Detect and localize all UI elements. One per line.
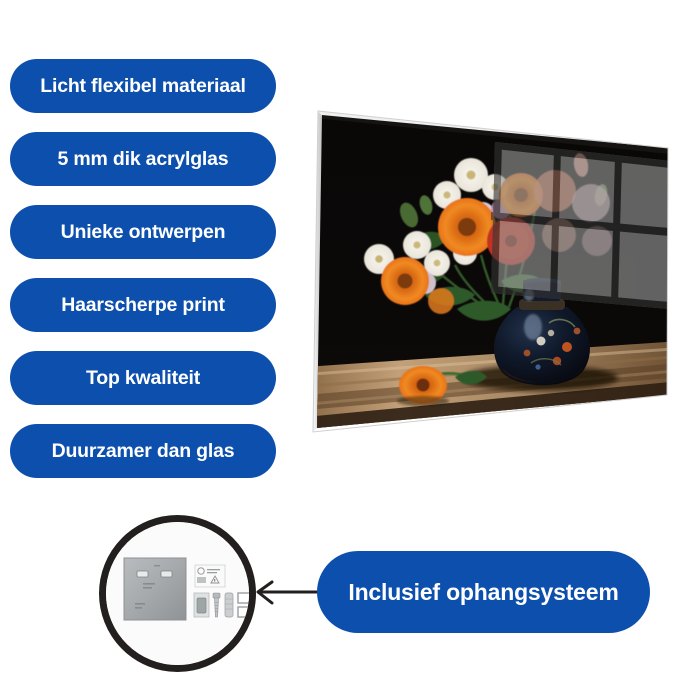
feature-badge-label: Licht flexibel materiaal [40,75,245,98]
feature-badge-label: Top kwaliteit [86,367,200,390]
callout-badge-inclusief-ophangsysteem[interactable]: Inclusief ophangsysteem [317,551,650,633]
callout-badge-label: Inclusief ophangsysteem [348,579,618,606]
feature-badge-haarscherpe-print[interactable]: Haarscherpe print [10,278,276,332]
window-reflection [491,142,680,310]
feature-badge-duurzamer-dan-glas[interactable]: Duurzamer dan glas [10,424,276,478]
feature-badge-label: 5 mm dik acrylglas [58,148,229,171]
feature-badge-5-mm-dik-acrylglas[interactable]: 5 mm dik acrylglas [10,132,276,186]
wall-plug-icon [225,593,233,617]
arrow-left-icon [248,572,324,614]
feature-badge-top-kwaliteit[interactable]: Top kwaliteit [10,351,276,405]
feature-badge-label: Unieke ontwerpen [61,221,226,244]
feature-badge-label: Haarscherpe print [61,294,225,317]
mounting-plate [124,558,186,620]
acrylic-panel [305,95,680,445]
product-feature-graphic: Licht flexibel materiaal 5 mm dik acrylg… [0,0,700,700]
feature-badge-label: Duurzamer dan glas [52,440,235,463]
hanging-kit-photo-circle [99,515,256,672]
feature-badge-licht-flexibel-materiaal[interactable]: Licht flexibel materiaal [10,59,276,113]
instruction-card [195,565,225,587]
feature-badge-unieke-ontwerpen[interactable]: Unieke ontwerpen [10,205,276,259]
